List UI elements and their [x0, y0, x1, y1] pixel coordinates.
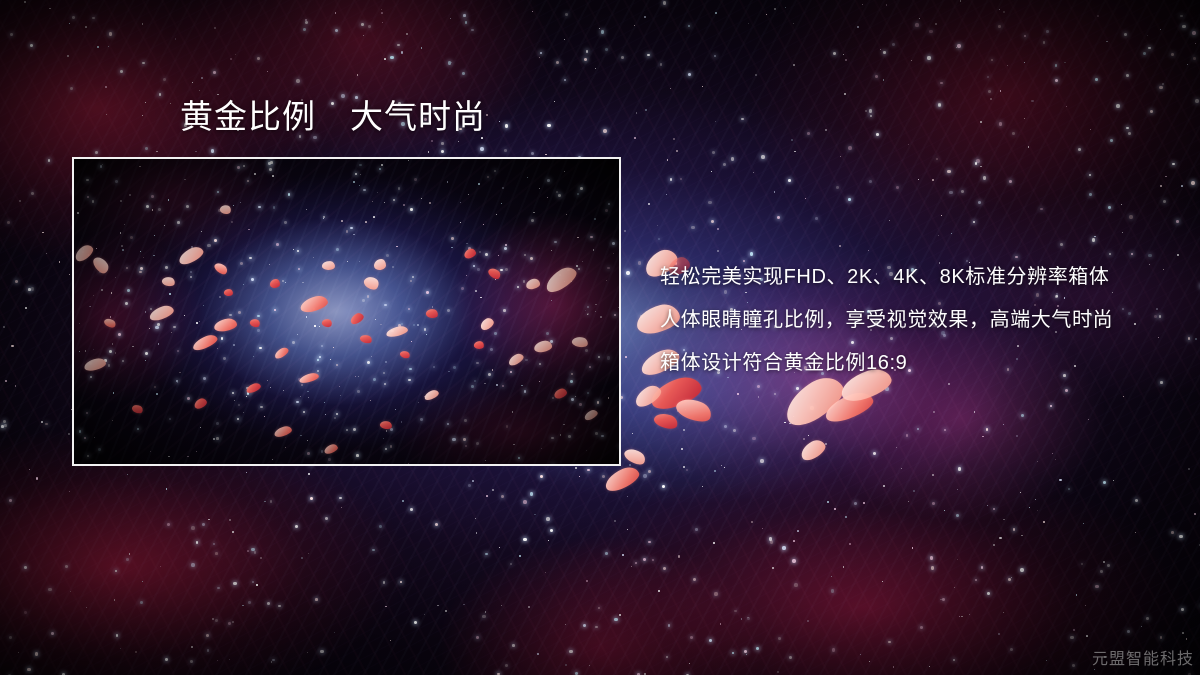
body-line-3: 箱体设计符合黄金比例16:9 — [660, 342, 1180, 385]
watermark-logo-text: 元盟智能科技 — [1092, 651, 1194, 669]
body-line-1: 轻松完美实现FHD、2K、4K、8K标准分辨率箱体 — [660, 256, 1180, 299]
page-title: 黄金比例 大气时尚 — [180, 100, 486, 133]
body-text-block: 轻松完美实现FHD、2K、4K、8K标准分辨率箱体 人体眼睛瞳孔比例，享受视觉效… — [660, 256, 1180, 385]
panel-vignette — [74, 159, 619, 464]
framed-nebula-image — [72, 157, 621, 466]
body-line-2: 人体眼睛瞳孔比例，享受视觉效果，高端大气时尚 — [660, 299, 1180, 342]
slide-canvas: 黄金比例 大气时尚 轻松完美实现FHD、2K、4K、8K标准分辨率箱体 人体眼睛… — [0, 0, 1200, 675]
